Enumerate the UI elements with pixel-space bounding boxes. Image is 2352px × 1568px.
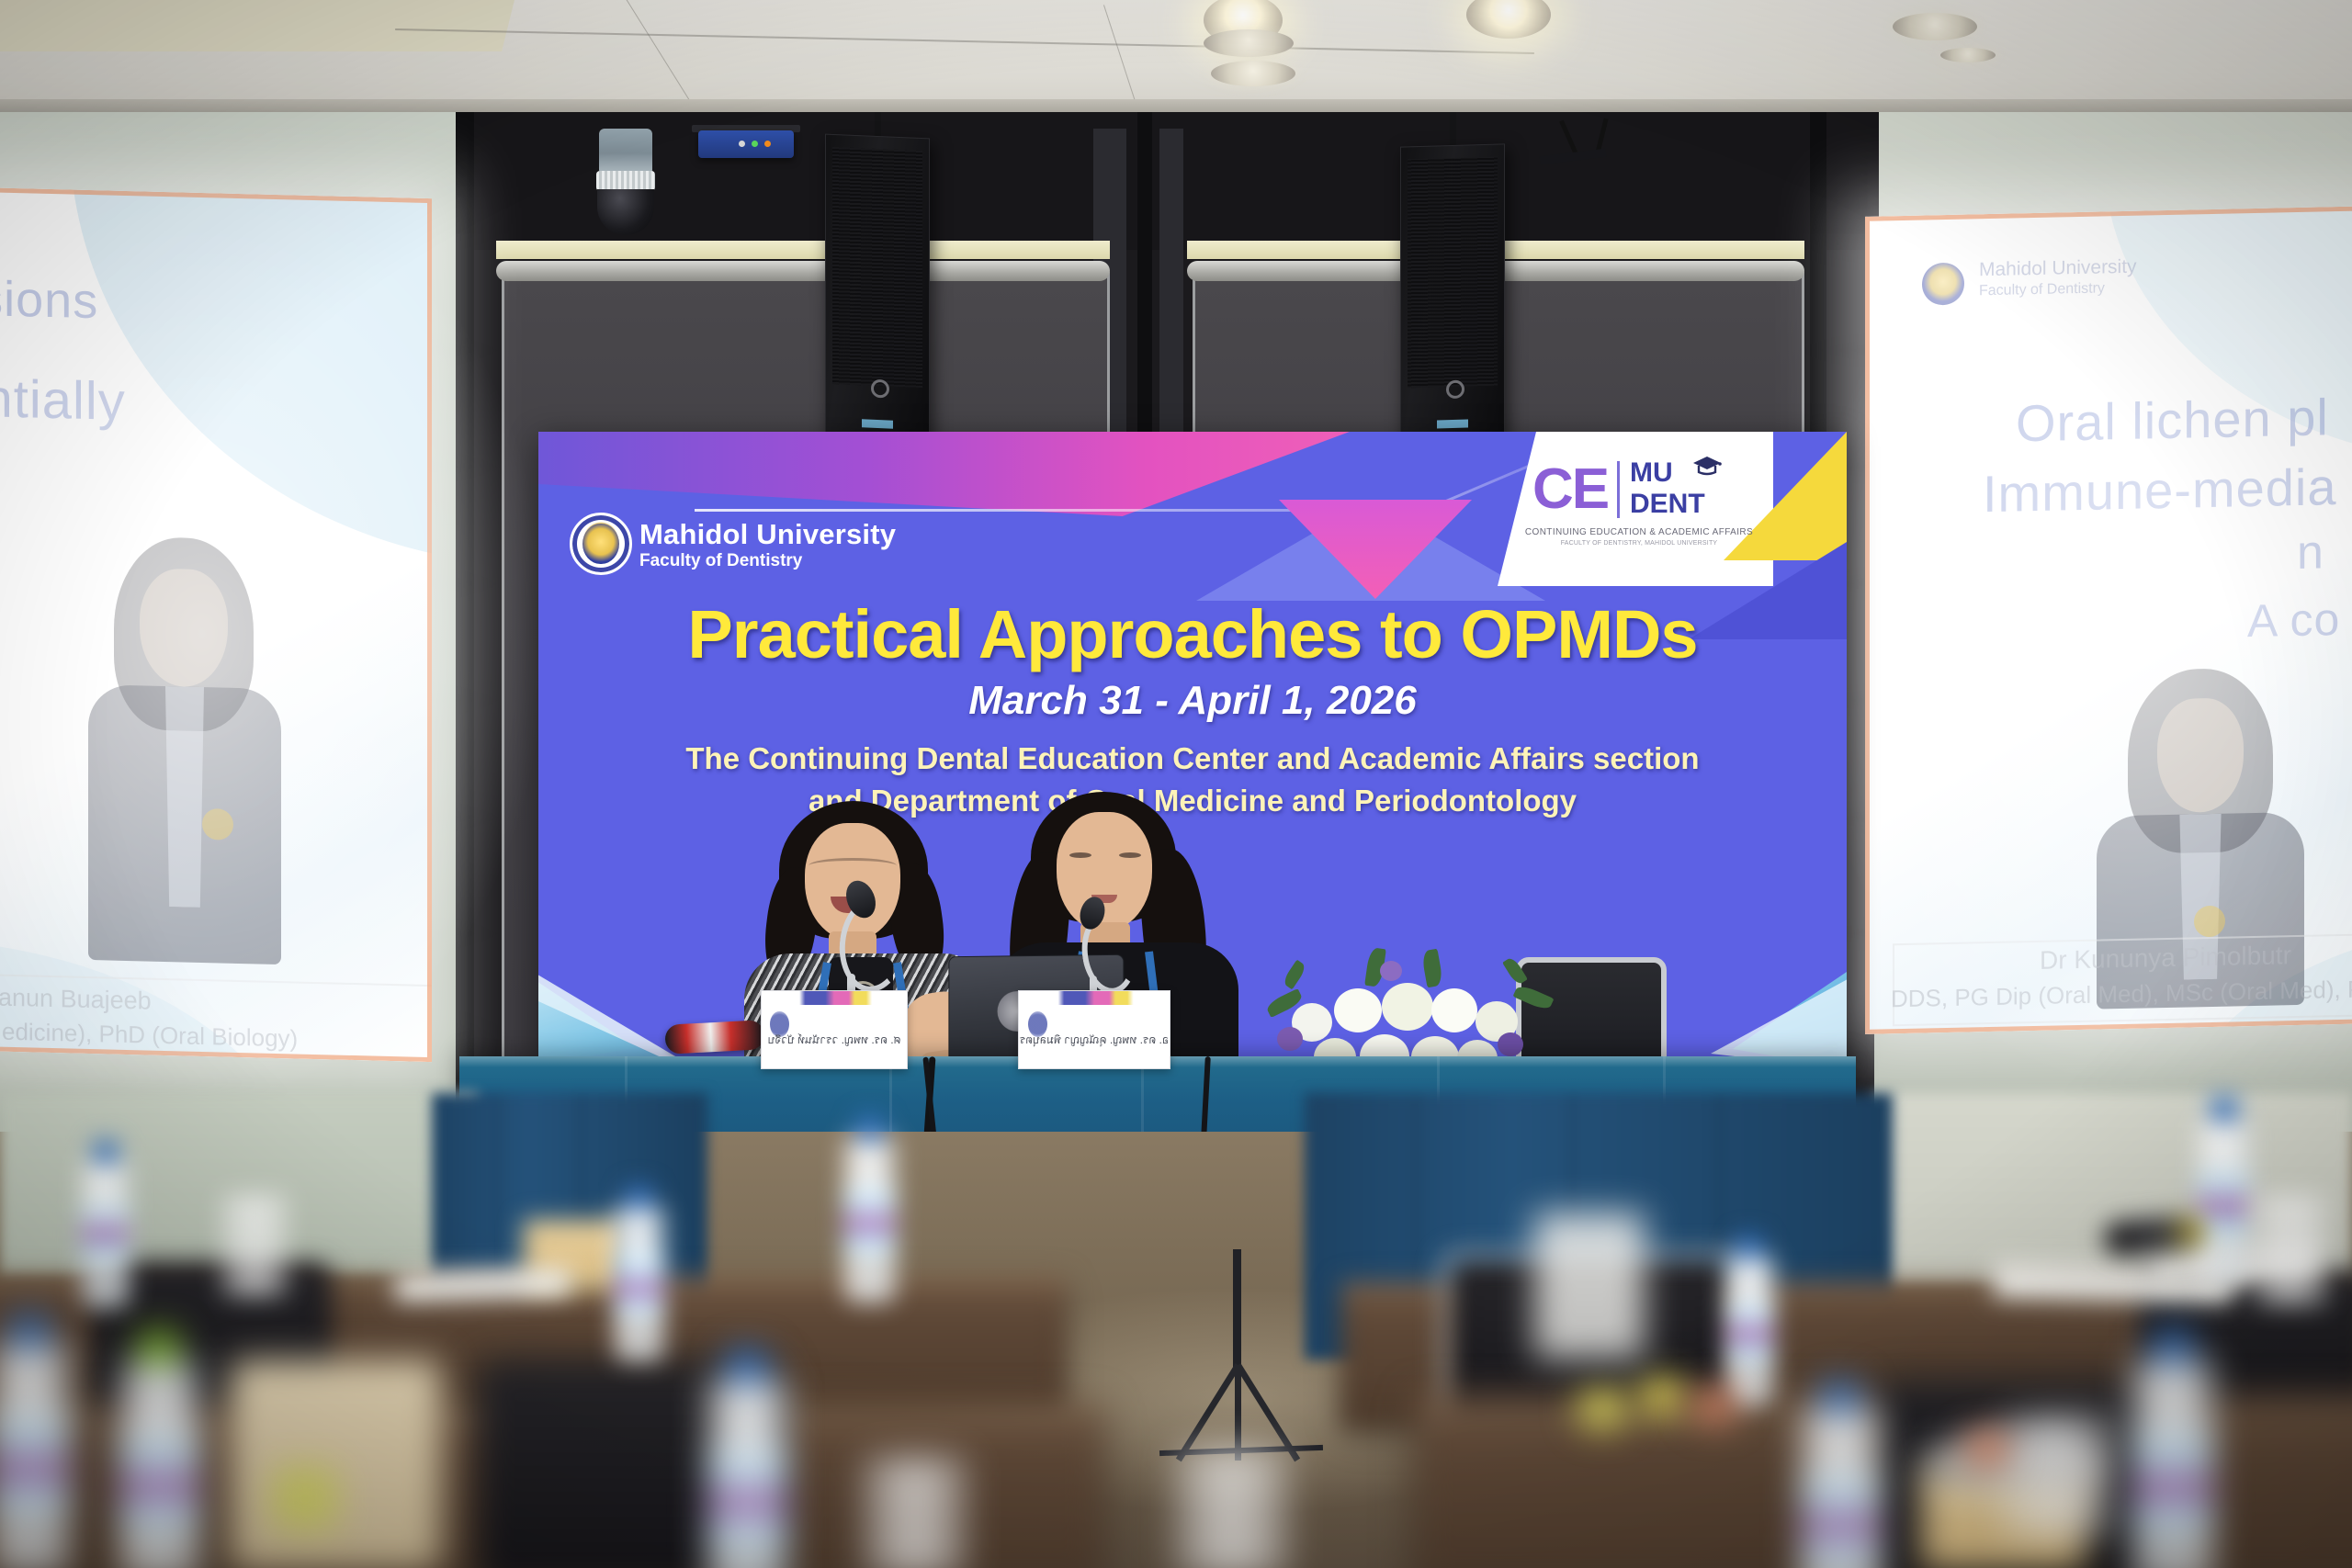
drinking-glass[interactable] [2253, 1194, 2328, 1306]
snack-plate [1920, 1433, 2104, 1497]
fruit-item [1577, 1389, 1628, 1429]
ceiling-downlight-icon [1893, 13, 1977, 40]
fruit-item [1692, 1387, 1736, 1424]
paper-cup [1534, 1213, 1645, 1359]
ce-mu-dent-logo: CE MU DENT CONTINUING EDUCATION & ACADEM… [1529, 448, 1760, 577]
water-bottle[interactable] [119, 1359, 198, 1568]
ceiling-downlight-icon [1204, 29, 1294, 57]
water-bottle[interactable] [843, 1137, 895, 1301]
fruit-item [1966, 1429, 2008, 1468]
banner-event-dates: March 31 - April 1, 2026 [538, 678, 1847, 724]
nameplate-right: อ. ดร. ทพญ. คุณัญญา พิมลบุตร [1018, 990, 1170, 1069]
banner-event-title: Practical Approaches to OPMDs [538, 595, 1847, 673]
paper-bag [230, 1359, 441, 1568]
water-bottle[interactable] [0, 1343, 68, 1568]
ceiling-downlight-icon [1211, 61, 1295, 86]
blind-roller[interactable] [496, 261, 1110, 281]
pa-speaker-icon [825, 134, 930, 444]
ce-divider [1617, 461, 1620, 518]
banner-faculty-name: Faculty of Dentistry [639, 551, 802, 571]
left-projection-screen: noid lesions ral potentially ach essor D… [0, 187, 432, 1062]
ce-mark: CE [1532, 461, 1608, 518]
nameplate-left-text: ศ. ดร. ทพญ. วรานันท์ บัวจีบ [762, 1032, 907, 1049]
conference-room-photo: noid lesions ral potentially ach essor D… [0, 0, 2352, 1568]
pa-speaker-icon [1400, 143, 1505, 442]
speaker-mount-rod [1450, 112, 1456, 149]
water-bottle[interactable] [81, 1159, 129, 1306]
ce-tagline-secondary: FACULTY OF DENTISTRY, MAHIDOL UNIVERSITY [1523, 540, 1755, 547]
right-projection-screen: Mahidol University Faculty of Dentistry … [1865, 206, 2352, 1034]
ce-tagline: CONTINUING EDUCATION & ACADEMIC AFFAIRS [1523, 527, 1755, 537]
nameplate-right-text: อ. ดร. ทพญ. คุณัญญา พิมลบุตร [1019, 1032, 1170, 1049]
ceiling-panel-yellow [0, 0, 514, 51]
banner-university-name: Mahidol University [639, 518, 896, 551]
water-bottle[interactable] [2131, 1358, 2212, 1568]
ceiling-downlight-icon [1940, 48, 1996, 62]
bag-contents [272, 1466, 338, 1530]
fruit-item [1637, 1376, 1687, 1416]
dome-security-camera-icon [599, 129, 652, 173]
drinking-glass[interactable] [220, 1194, 288, 1297]
ce-mu-text: MU [1630, 459, 1673, 487]
dome-security-camera-icon [596, 171, 655, 191]
water-bottle[interactable] [707, 1378, 786, 1568]
wall-mullion [456, 112, 474, 1132]
wifi-access-point-icon [698, 130, 794, 158]
ce-dent-text: DENT [1630, 491, 1705, 518]
blind-valance [496, 241, 1110, 259]
water-bottle[interactable] [2198, 1117, 2249, 1282]
water-bottle[interactable] [1725, 1255, 1773, 1404]
graduation-cap-icon [1692, 456, 1722, 476]
handheld-microphone[interactable] [664, 1020, 765, 1055]
drinking-glass[interactable] [1176, 1448, 1288, 1568]
nameplate-left: ศ. ดร. ทพญ. วรานันท์ บัวจีบ [761, 990, 908, 1069]
water-bottle[interactable] [614, 1205, 663, 1359]
water-bottle[interactable] [1801, 1407, 1880, 1568]
drinking-glass[interactable] [864, 1457, 967, 1568]
mahidol-seal-icon [570, 513, 632, 575]
banner-organizer-line-1: The Continuing Dental Education Center a… [538, 739, 1847, 779]
